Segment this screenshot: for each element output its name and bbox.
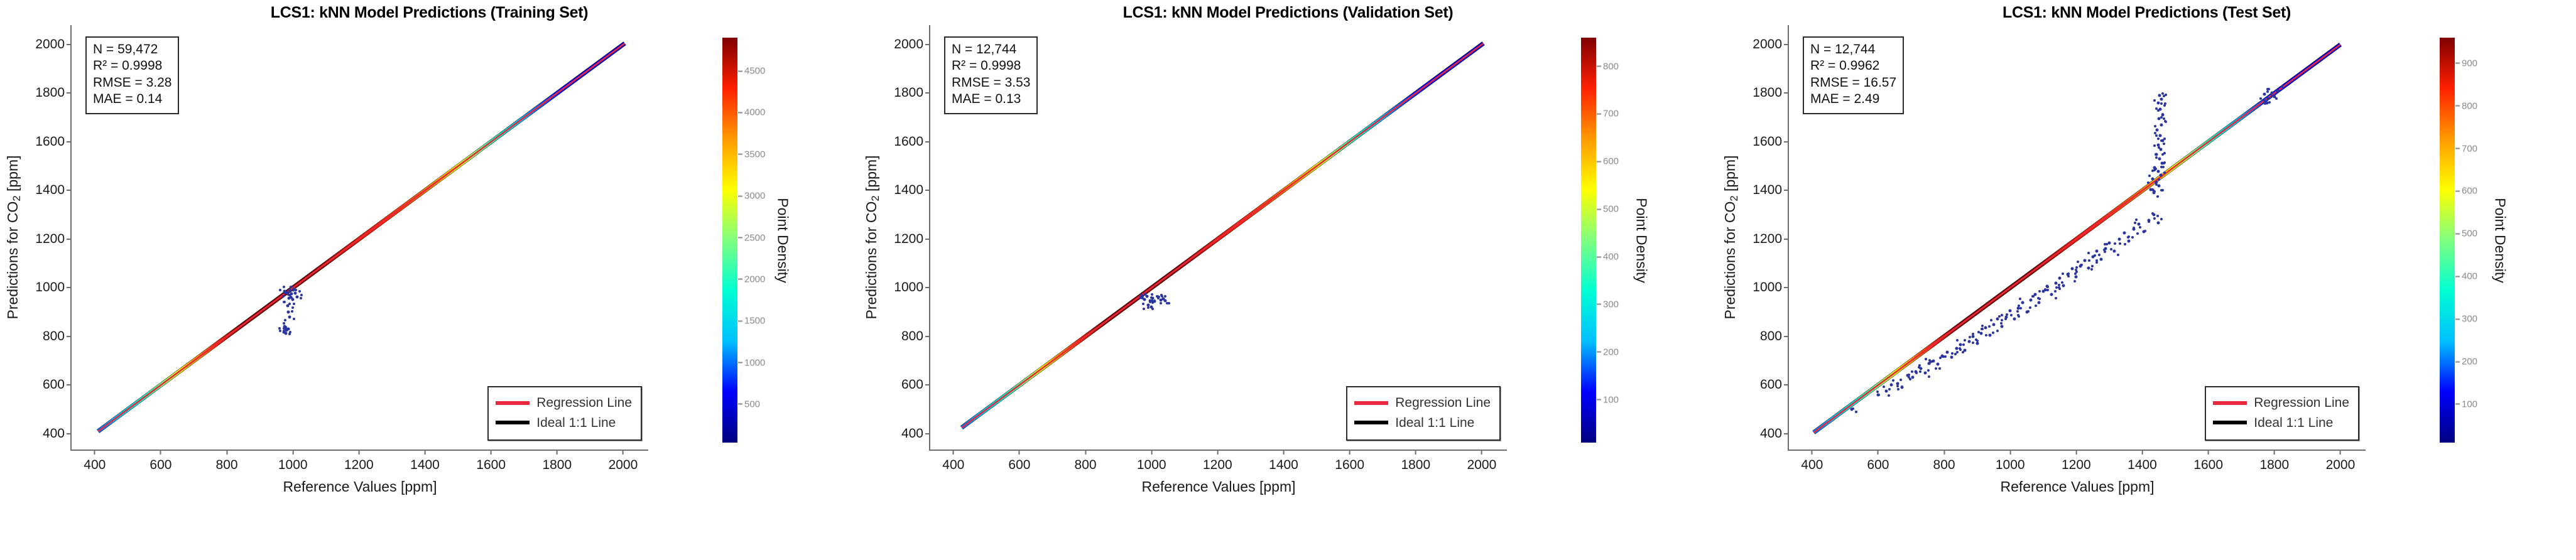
scatter-point (2160, 189, 2163, 191)
scatter-point (286, 304, 289, 308)
scatter-point (2281, 85, 2283, 88)
scatter-point (1855, 411, 1857, 413)
scatter-point (289, 331, 291, 333)
scatter-point (2148, 175, 2151, 177)
scatter-point (2160, 139, 2163, 142)
legend-item-regression-line[interactable]: Regression Line (1354, 393, 1491, 413)
y-axis-tick: 400 (1760, 426, 1789, 441)
scatter-point (2098, 254, 2100, 256)
scatter-point (283, 301, 285, 303)
scatter-point (1928, 375, 1930, 378)
scatter-point (1147, 306, 1149, 309)
scatter-point (282, 295, 285, 298)
scatter-point (1164, 299, 1167, 302)
legend[interactable]: Regression LineIdeal 1:1 Line (487, 386, 642, 441)
scatter-point (1959, 348, 1962, 351)
scatter-point (2160, 98, 2163, 101)
colorbar-label: Point Density (2492, 198, 2509, 283)
scatter-point (1145, 294, 1148, 298)
scatter-point (2094, 254, 2096, 257)
y-axis-tick: 1000 (35, 280, 72, 295)
scatter-point (2016, 310, 2019, 313)
scatter-point (2165, 121, 2167, 123)
scatter-point (2264, 102, 2266, 105)
y-axis-tick: 1200 (894, 232, 930, 247)
x-axis-tick: 400 (1801, 450, 1823, 473)
legend-label: Ideal 1:1 Line (536, 413, 616, 433)
y-axis-label: Predictions for CO2 [ppm] (863, 155, 882, 319)
y-axis-tick: 2000 (894, 37, 930, 52)
y-axis-tick: 1400 (35, 183, 72, 198)
colorbar-tick: 200 (1596, 347, 1619, 357)
y-axis-label-subscript: 2 (1728, 195, 1740, 201)
scatter-point (2027, 310, 2030, 313)
scatter-point (287, 311, 290, 314)
scatter-point (2112, 249, 2116, 252)
y-axis-tick: 1800 (1753, 85, 1789, 100)
colorbar-tick: 3500 (737, 149, 765, 159)
scatter-point (298, 290, 301, 293)
legend-item-regression-line[interactable]: Regression Line (2213, 393, 2349, 413)
colorbar-tick: 2000 (737, 274, 765, 284)
scatter-point (1992, 331, 1994, 334)
scatter-point (2018, 315, 2020, 318)
scatter-point (1998, 315, 2001, 318)
scatter-point (2156, 101, 2160, 104)
scatter-point (290, 286, 292, 288)
scatter-point (1151, 293, 1153, 296)
scatter-point (2107, 241, 2111, 244)
colorbar-tick: 500 (2455, 229, 2477, 239)
scatter-point (1975, 342, 1979, 345)
legend-item-ideal-line[interactable]: Ideal 1:1 Line (1354, 413, 1491, 433)
scatter-point (2156, 221, 2160, 224)
scatter-point (2158, 146, 2160, 149)
colorbar-tick: 700 (2455, 143, 2477, 154)
scatter-point (294, 291, 297, 294)
scatter-point (288, 294, 291, 296)
stat-mae: MAE = 0.13 (952, 91, 1030, 107)
scatter-point (1878, 394, 1880, 396)
scatter-point (2000, 322, 2003, 325)
scatter-point (2158, 94, 2161, 97)
colorbar-tick: 400 (2455, 271, 2477, 282)
y-axis-tick: 1600 (894, 134, 930, 149)
figure-three-panel-scatter: LCS1: kNN Model Predictions (Training Se… (0, 0, 2576, 560)
scatter-point (1950, 355, 1953, 358)
colorbar-tick: 200 (2455, 357, 2477, 367)
colorbar-tick: 100 (1596, 394, 1619, 405)
scatter-point (300, 294, 303, 296)
scatter-point (2155, 153, 2157, 156)
scatter-point (2139, 226, 2141, 229)
scatter-point (1888, 388, 1891, 390)
x-axis-tick: 800 (216, 450, 238, 473)
scatter-point (2134, 222, 2136, 224)
colorbar-tick: 800 (1596, 61, 1619, 72)
panel-training: LCS1: kNN Model Predictions (Training Se… (0, 0, 859, 560)
scatter-point (1972, 335, 1975, 338)
scatter-point (1168, 302, 1170, 304)
y-axis-tick: 800 (43, 329, 72, 344)
scatter-point (2266, 90, 2269, 93)
scatter-point (1985, 334, 1987, 337)
scatter-point (1936, 363, 1939, 366)
y-axis-tick: 2000 (35, 37, 72, 52)
scatter-point (1975, 338, 1977, 341)
scatter-point (1143, 308, 1145, 310)
x-axis-tick: 1400 (410, 450, 440, 473)
scatter-point (2275, 97, 2278, 100)
stat-rmse: RMSE = 3.53 (952, 75, 1030, 91)
scatter-point (2144, 230, 2146, 232)
scatter-point (2095, 250, 2098, 253)
scatter-point (1885, 390, 1888, 393)
scatter-point (2033, 293, 2036, 296)
scatter-point (2163, 152, 2166, 154)
scatter-point (291, 298, 295, 301)
stats-box: N = 12,744R² = 0.9962RMSE = 16.57MAE = 2… (1803, 36, 1904, 114)
scatter-point (1925, 358, 1927, 360)
panel-validation: LCS1: kNN Model Predictions (Validation … (859, 0, 1717, 560)
scatter-point (1142, 303, 1144, 305)
scatter-point (2058, 276, 2062, 279)
scatter-point (1967, 340, 1970, 343)
scatter-point (2013, 318, 2016, 321)
scatter-point (2153, 144, 2156, 147)
scatter-point (288, 315, 291, 318)
y-axis-label: Predictions for CO2 [ppm] (1722, 155, 1741, 319)
x-axis-tick: 1200 (2062, 450, 2091, 473)
scatter-point (2083, 259, 2086, 262)
y-axis-label-suffix: [ppm] (4, 155, 21, 195)
legend[interactable]: Regression LineIdeal 1:1 Line (1346, 386, 1501, 441)
scatter-point (1959, 343, 1962, 347)
scatter-point (2019, 298, 2021, 300)
scatter-point (1935, 367, 1937, 370)
x-axis-tick: 2000 (1467, 450, 1497, 473)
scatter-point (2128, 240, 2131, 243)
scatter-point (1939, 357, 1942, 359)
x-axis-tick: 600 (1867, 450, 1889, 473)
colorbar-tick: 500 (1596, 204, 1619, 215)
x-axis-tick: 600 (149, 450, 171, 473)
scatter-point (2157, 109, 2160, 112)
scatter-point (2276, 90, 2278, 92)
y-axis-label-suffix: [ppm] (863, 155, 879, 195)
x-axis-tick: 1000 (278, 450, 308, 473)
scatter-point (1911, 370, 1913, 373)
scatter-point (2055, 297, 2057, 299)
x-axis-tick: 2000 (609, 450, 638, 473)
stat-n: N = 59,472 (93, 41, 171, 58)
legend-swatch-icon (1354, 401, 1388, 405)
legend-item-ideal-line[interactable]: Ideal 1:1 Line (2213, 413, 2349, 433)
colorbar-tick: 3000 (737, 191, 765, 202)
scatter-point (2156, 129, 2159, 132)
scatter-point (1988, 333, 1991, 337)
scatter-point (2135, 218, 2138, 221)
colorbar-tick: 100 (2455, 399, 2477, 409)
scatter-point (2019, 307, 2022, 310)
legend-label: Regression Line (536, 393, 632, 413)
colorbar-tick: 300 (2455, 314, 2477, 325)
scatter-point (2158, 158, 2161, 161)
stat-mae: MAE = 0.14 (93, 91, 171, 107)
scatter-point (1888, 394, 1890, 397)
scatter-point (293, 303, 295, 305)
colorbar-tick: 600 (2455, 186, 2477, 197)
scatter-point (2122, 232, 2126, 235)
legend-label: Regression Line (1395, 393, 1491, 413)
colorbar-tick: 2500 (737, 232, 765, 243)
panel-title: LCS1: kNN Model Predictions (Test Set) (1717, 4, 2576, 22)
scatter-point (2163, 161, 2166, 164)
y-axis-tick: 1800 (35, 85, 72, 100)
x-axis-tick: 1800 (542, 450, 572, 473)
plot-area: 4006008001000120014001600180020004006008… (1788, 25, 2366, 451)
scatter-point (2117, 254, 2119, 256)
scatter-point (2044, 288, 2046, 291)
scatter-point (2156, 170, 2160, 173)
x-axis-tick: 400 (942, 450, 964, 473)
scatter-point (2259, 97, 2262, 100)
scatter-point (284, 292, 286, 294)
scatter-point (2154, 125, 2156, 127)
scatter-point (2160, 166, 2163, 168)
y-axis-tick: 400 (43, 426, 72, 441)
scatter-point (2266, 88, 2269, 90)
scatter-point (2074, 272, 2077, 275)
stats-box: N = 59,472R² = 0.9998RMSE = 3.28MAE = 0.… (85, 36, 179, 114)
scatter-point (1927, 369, 1930, 372)
scatter-point (2117, 237, 2121, 240)
scatter-point (2159, 134, 2162, 137)
y-axis-tick: 1000 (1753, 280, 1789, 295)
scatter-point (2061, 281, 2063, 284)
legend-swatch-icon (2213, 401, 2247, 405)
x-axis-label: Reference Values [ppm] (72, 478, 648, 495)
legend-item-regression-line[interactable]: Regression Line (496, 393, 632, 413)
scatter-point (1141, 295, 1144, 298)
scatter-point (1164, 295, 1166, 298)
stat-mae: MAE = 2.49 (1810, 91, 1896, 107)
scatter-point (1981, 328, 1983, 330)
scatter-point (1951, 352, 1954, 355)
scatter-point (2153, 99, 2156, 102)
scatter-point (2071, 267, 2074, 271)
scatter-point (2067, 275, 2070, 277)
scatter-point (1988, 325, 1991, 328)
x-axis-label: Reference Values [ppm] (1789, 478, 2366, 495)
scatter-point (2124, 243, 2126, 245)
scatter-point (2054, 282, 2057, 285)
y-axis-tick: 600 (901, 377, 930, 392)
colorbar: 50010001500200025003000350040004500Point… (722, 38, 817, 443)
y-axis-tick: 1200 (1753, 232, 1789, 247)
colorbar-tick: 4500 (737, 66, 765, 77)
y-axis-tick: 1600 (35, 134, 72, 149)
legend[interactable]: Regression LineIdeal 1:1 Line (2205, 386, 2359, 441)
scatter-point (1969, 336, 1971, 338)
colorbar-gradient (722, 38, 737, 443)
scatter-point (2131, 236, 2134, 239)
stat-n: N = 12,744 (1810, 41, 1896, 58)
colorbar-tick: 700 (1596, 109, 1619, 119)
scatter-point (288, 303, 291, 305)
colorbar-tick: 600 (1596, 156, 1619, 167)
scatter-point (2038, 290, 2041, 293)
y-axis-label-prefix: Predictions for CO (1722, 202, 1738, 320)
scatter-point (1911, 375, 1915, 379)
colorbar-gradient (1581, 38, 1596, 443)
scatter-point (2009, 310, 2012, 313)
scatter-point (1962, 343, 1965, 346)
y-axis-tick: 800 (1760, 329, 1789, 344)
scatter-point (1883, 385, 1885, 388)
scatter-point (2029, 298, 2032, 301)
scatter-point (291, 306, 294, 309)
x-axis-tick: 1400 (1269, 450, 1298, 473)
y-axis-label-suffix: [ppm] (1722, 155, 1738, 195)
scatter-point (279, 330, 281, 332)
scatter-point (286, 328, 289, 330)
scatter-point (2128, 235, 2130, 238)
colorbar-tick: 900 (2455, 58, 2477, 68)
y-axis-label-subscript: 2 (11, 195, 23, 201)
x-axis-tick: 1800 (1401, 450, 1430, 473)
scatter-point (1972, 333, 1974, 335)
scatter-point (2099, 257, 2102, 261)
scatter-point (2119, 242, 2121, 245)
x-axis-tick: 800 (1933, 450, 1955, 473)
scatter-point (2075, 275, 2078, 278)
scatter-point (2091, 265, 2094, 267)
y-axis-tick: 1200 (35, 232, 72, 247)
y-axis-label-prefix: Predictions for CO (863, 202, 879, 320)
scatter-point (1889, 384, 1893, 387)
y-axis-tick: 2000 (1753, 37, 1789, 52)
stat-rmse: RMSE = 3.28 (93, 75, 171, 91)
scatter-point (2038, 301, 2041, 304)
colorbar-tick: 300 (1596, 299, 1619, 310)
scatter-point (2160, 218, 2163, 220)
x-axis-tick: 1600 (2193, 450, 2223, 473)
legend-swatch-icon (1354, 421, 1388, 424)
scatter-point (2158, 178, 2160, 181)
scatter-point (2160, 123, 2163, 126)
scatter-point (2090, 268, 2093, 271)
scatter-point (1908, 374, 1910, 376)
x-axis-tick: 2000 (2326, 450, 2356, 473)
colorbar-tick: 400 (1596, 252, 1619, 262)
scatter-point (2160, 116, 2163, 119)
scatter-point (2058, 284, 2060, 286)
x-axis-tick: 1200 (1203, 450, 1232, 473)
scatter-point (1992, 323, 1995, 326)
scatter-point (1996, 318, 1999, 321)
scatter-point (2058, 288, 2061, 290)
scatter-point (2073, 280, 2076, 283)
scatter-point (2088, 259, 2090, 262)
scatter-point (2110, 248, 2112, 250)
stat-rmse: RMSE = 16.57 (1810, 75, 1896, 91)
scatter-point (295, 296, 298, 299)
scatter-point (2046, 285, 2049, 288)
scatter-point (2160, 102, 2163, 105)
y-axis-tick: 1600 (1753, 134, 1789, 149)
scatter-point (293, 318, 295, 320)
scatter-point (2067, 272, 2070, 275)
scatter-point (2006, 313, 2008, 316)
scatter-point (2038, 298, 2041, 300)
scatter-point (2165, 94, 2167, 96)
scatter-point (2263, 93, 2266, 96)
scatter-point (2001, 325, 2004, 328)
x-axis-tick: 1000 (1137, 450, 1166, 473)
stat-r2: R² = 0.9998 (952, 58, 1030, 74)
x-axis-tick: 1600 (476, 450, 506, 473)
x-axis-label: Reference Values [ppm] (930, 478, 1507, 495)
scatter-point (2147, 181, 2149, 184)
scatter-point (2161, 113, 2164, 116)
scatter-point (2161, 92, 2164, 95)
scatter-point (2106, 243, 2108, 245)
colorbar-label: Point Density (774, 198, 791, 283)
x-axis-tick: 1200 (344, 450, 374, 473)
scatter-point (1981, 325, 1984, 327)
scatter-point (2148, 220, 2150, 223)
y-axis-label-subscript: 2 (869, 195, 881, 201)
scatter-point (287, 296, 290, 299)
colorbar-tick: 4000 (737, 107, 765, 118)
panel-title: LCS1: kNN Model Predictions (Validation … (859, 4, 1717, 22)
scatter-point (2159, 148, 2162, 151)
scatter-point (2075, 269, 2077, 271)
scatter-point (1918, 364, 1921, 367)
scatter-point (1900, 386, 1903, 389)
scatter-point (2156, 215, 2159, 217)
scatter-point (2138, 222, 2141, 225)
scatter-point (2050, 293, 2053, 296)
scatter-point (2054, 290, 2057, 293)
scatter-point (1150, 305, 1153, 308)
scatter-point (2157, 137, 2160, 140)
scatter-point (1946, 351, 1949, 354)
legend-swatch-icon (496, 401, 530, 405)
scatter-point (2151, 212, 2154, 215)
legend-item-ideal-line[interactable]: Ideal 1:1 Line (496, 413, 632, 433)
scatter-point (2263, 99, 2266, 102)
stat-r2: R² = 0.9998 (93, 58, 171, 74)
scatter-point (1962, 351, 1964, 353)
scatter-point (1956, 339, 1959, 342)
scatter-point (2161, 153, 2164, 156)
x-axis-tick: 800 (1075, 450, 1097, 473)
colorbar: 100200300400500600700800900Point Density (2440, 38, 2534, 443)
scatter-point (2151, 188, 2154, 191)
scatter-point (1930, 360, 1933, 363)
scatter-point (2080, 264, 2082, 266)
scatter-point (2156, 195, 2159, 198)
scatter-point (2087, 252, 2090, 254)
y-axis-tick: 1400 (894, 183, 930, 198)
scatter-point (1892, 379, 1894, 382)
scatter-point (1876, 390, 1879, 393)
scatter-point (2163, 104, 2166, 107)
scatter-point (2155, 134, 2158, 137)
x-axis-tick: 1000 (1996, 450, 2025, 473)
